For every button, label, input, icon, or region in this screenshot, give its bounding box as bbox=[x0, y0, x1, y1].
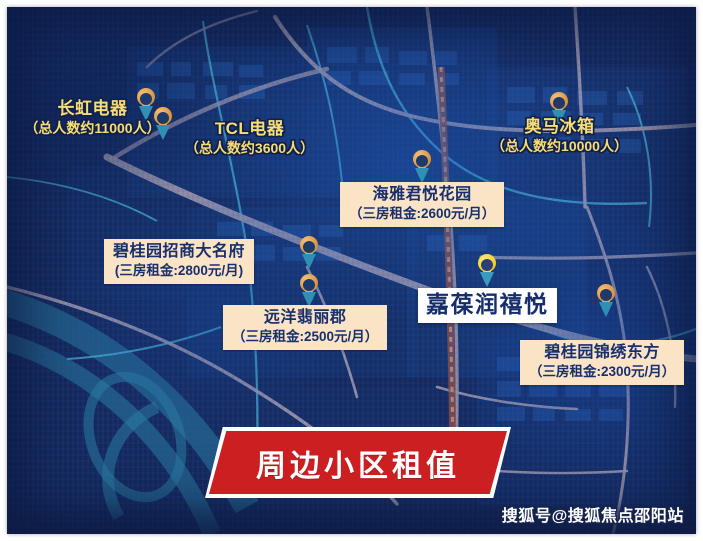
map-canvas[interactable]: 长虹电器 （总人数约11000人） TCL电器 （总人数约3600人） 奥马冰箱… bbox=[7, 7, 696, 534]
map-pin-icon-haiya[interactable] bbox=[411, 150, 433, 184]
community-rent: (三房租金:2800元/月) bbox=[113, 263, 245, 279]
community-rent: （三房租金:2300元/月） bbox=[529, 364, 675, 380]
factory-name: TCL电器 bbox=[162, 120, 337, 139]
community-rent: （三房租金:2500元/月） bbox=[232, 329, 378, 345]
community-label-biguiyuan-zhaoshang[interactable]: 碧桂园招商大名府 (三房租金:2800元/月) bbox=[104, 239, 254, 284]
banner-title: 周边小区租值 bbox=[256, 441, 460, 485]
map-pin-icon-main-project[interactable] bbox=[476, 254, 498, 288]
factory-name: 长虹电器 bbox=[10, 100, 175, 119]
map-pin-icon-biguiyuan-jinxiu[interactable] bbox=[595, 284, 617, 318]
community-label-biguiyuan-jinxiu[interactable]: 碧桂园锦绣东方 （三房租金:2300元/月） bbox=[520, 340, 684, 385]
factory-label-aucma: 奥马冰箱 （总人数约10000人） bbox=[472, 118, 647, 154]
community-label-yuanyang[interactable]: 远洋翡丽郡 （三房租金:2500元/月） bbox=[223, 305, 387, 350]
factory-detail: （总人数约3600人） bbox=[162, 141, 337, 156]
factory-detail: （总人数约11000人） bbox=[10, 121, 175, 136]
community-rent: （三房租金:2600元/月） bbox=[349, 206, 495, 222]
main-project-name: 嘉葆润禧悦 bbox=[426, 291, 549, 317]
map-pin-icon-yuanyang[interactable] bbox=[298, 274, 320, 308]
community-name: 远洋翡丽郡 bbox=[232, 309, 378, 328]
factory-name: 奥马冰箱 bbox=[472, 118, 647, 137]
community-name: 碧桂园锦绣东方 bbox=[529, 344, 675, 363]
factory-detail: （总人数约10000人） bbox=[472, 139, 647, 154]
factory-label-changhong: 长虹电器 （总人数约11000人） bbox=[10, 100, 175, 136]
main-project-label[interactable]: 嘉葆润禧悦 bbox=[418, 288, 557, 323]
map-pin-icon-biguiyuan-zhaoshang[interactable] bbox=[298, 236, 320, 270]
factory-label-tcl: TCL电器 （总人数约3600人） bbox=[162, 120, 337, 156]
watermark-text: 搜狐号@搜狐焦点邵阳站 bbox=[502, 502, 684, 526]
community-label-haiya[interactable]: 海雅君悦花园 （三房租金:2600元/月） bbox=[340, 182, 504, 227]
banner-周边小区租值[interactable]: 周边小区租值 bbox=[209, 431, 507, 494]
community-name: 海雅君悦花园 bbox=[349, 186, 495, 205]
poster-root: 长虹电器 （总人数约11000人） TCL电器 （总人数约3600人） 奥马冰箱… bbox=[0, 0, 703, 541]
community-name: 碧桂园招商大名府 bbox=[113, 243, 245, 262]
